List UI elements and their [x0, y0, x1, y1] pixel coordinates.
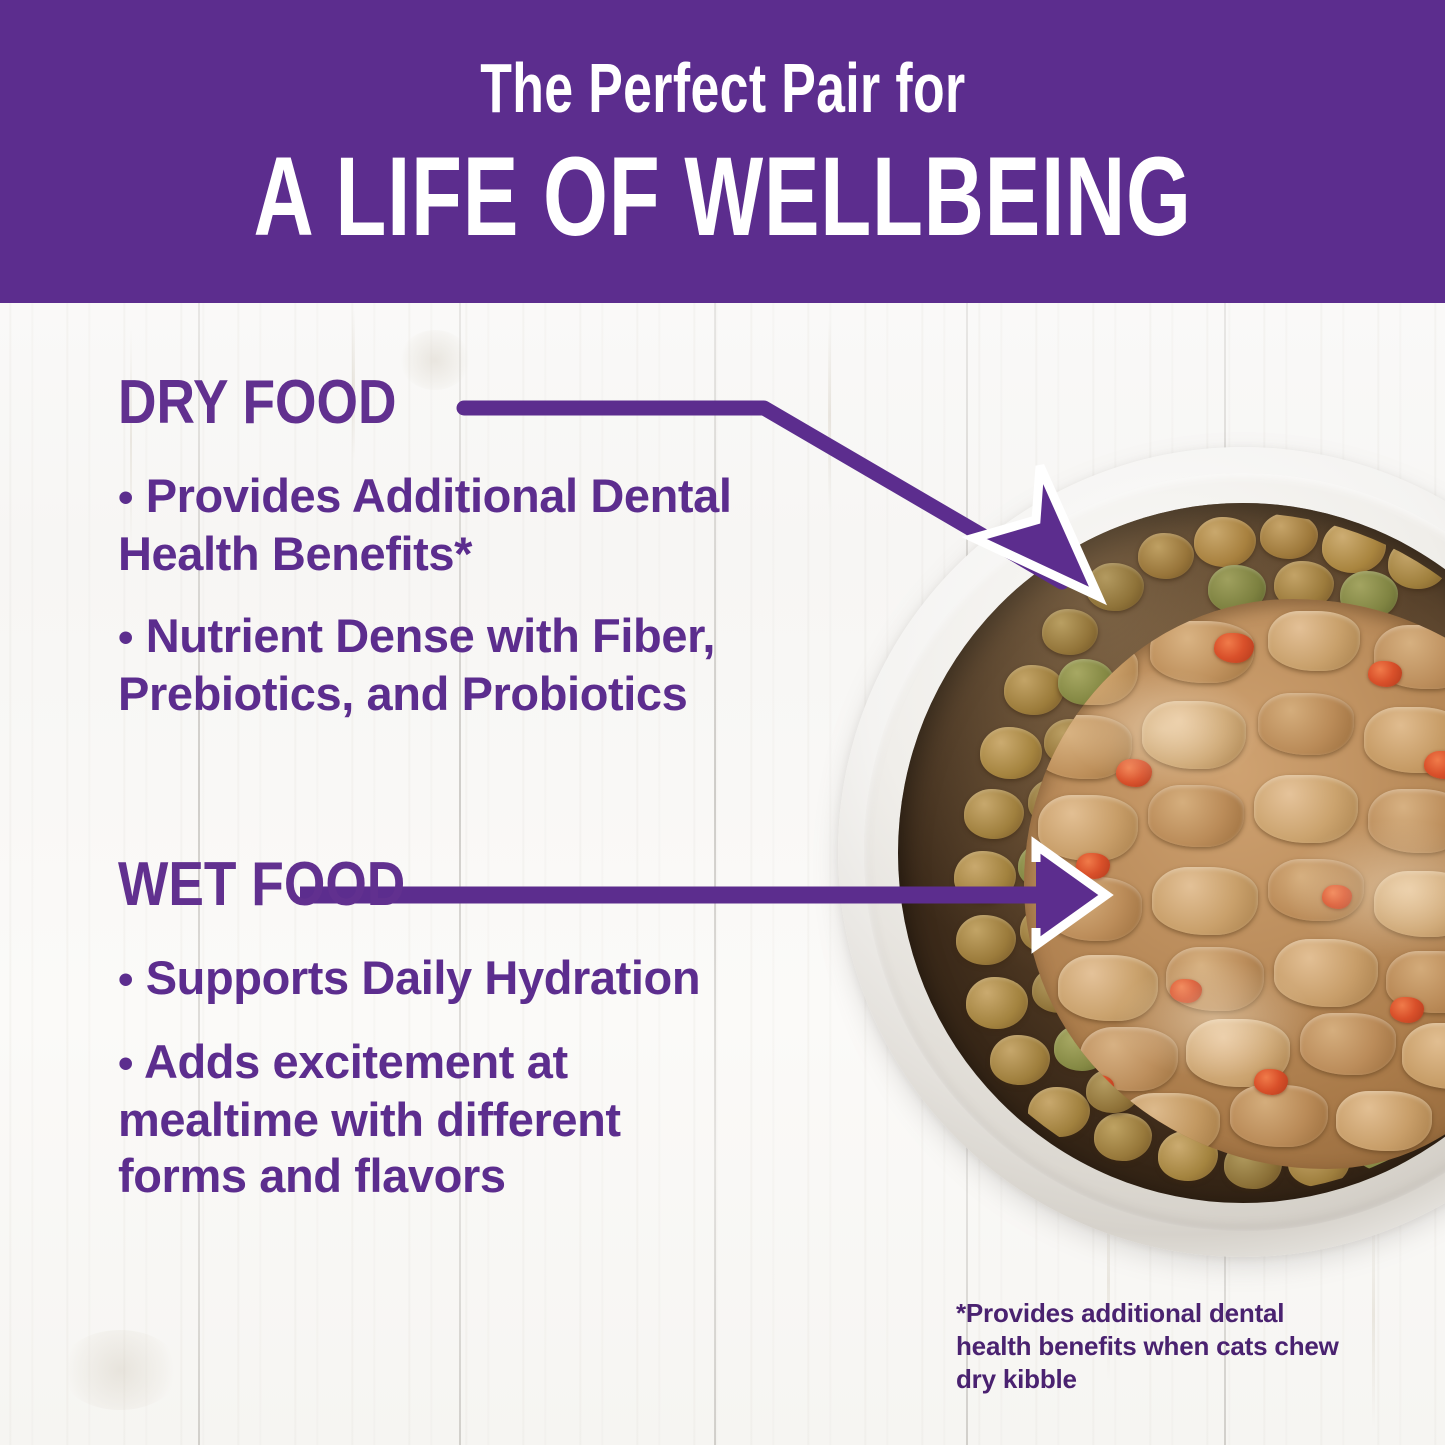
dry-food-section: DRY FOOD • Provides Additional Dental He…	[118, 372, 738, 722]
bullet-marker-icon: •	[118, 613, 133, 662]
footnote-disclaimer: *Provides additional dental health benef…	[956, 1297, 1356, 1396]
header-line-1: The Perfect Pair for	[480, 51, 965, 125]
bullet-marker-icon: •	[118, 1039, 133, 1088]
list-item-text: Provides Additional Dental Health Benefi…	[118, 469, 732, 580]
list-item: • Provides Additional Dental Health Bene…	[118, 468, 738, 582]
list-item-text: Nutrient Dense with Fiber, Prebiotics, a…	[118, 609, 715, 720]
dry-food-bullet-list: • Provides Additional Dental Health Bene…	[118, 468, 738, 722]
wet-food-heading: WET FOOD	[118, 854, 651, 916]
list-item: • Supports Daily Hydration	[118, 950, 738, 1008]
list-item-text: Supports Daily Hydration	[146, 951, 700, 1004]
poster-canvas: The Perfect Pair for A LIFE OF WELLBEING	[0, 0, 1445, 1445]
wet-food-section: WET FOOD • Supports Daily Hydration • Ad…	[118, 854, 738, 1204]
page-title: A LIFE OF WELLBEING	[253, 141, 1191, 253]
bullet-marker-icon: •	[118, 473, 133, 522]
list-item: • Adds excitement at mealtime with diffe…	[118, 1034, 738, 1204]
list-item: • Nutrient Dense with Fiber, Prebiotics,…	[118, 608, 738, 722]
dry-food-heading: DRY FOOD	[118, 372, 651, 434]
bullet-marker-icon: •	[118, 955, 133, 1004]
header-banner: The Perfect Pair for A LIFE OF WELLBEING	[0, 0, 1445, 303]
list-item-text: Adds excitement at mealtime with differe…	[118, 1035, 621, 1202]
wet-food-bullet-list: • Supports Daily Hydration • Adds excite…	[118, 950, 738, 1204]
content-area: DRY FOOD • Provides Additional Dental He…	[0, 303, 1445, 1445]
